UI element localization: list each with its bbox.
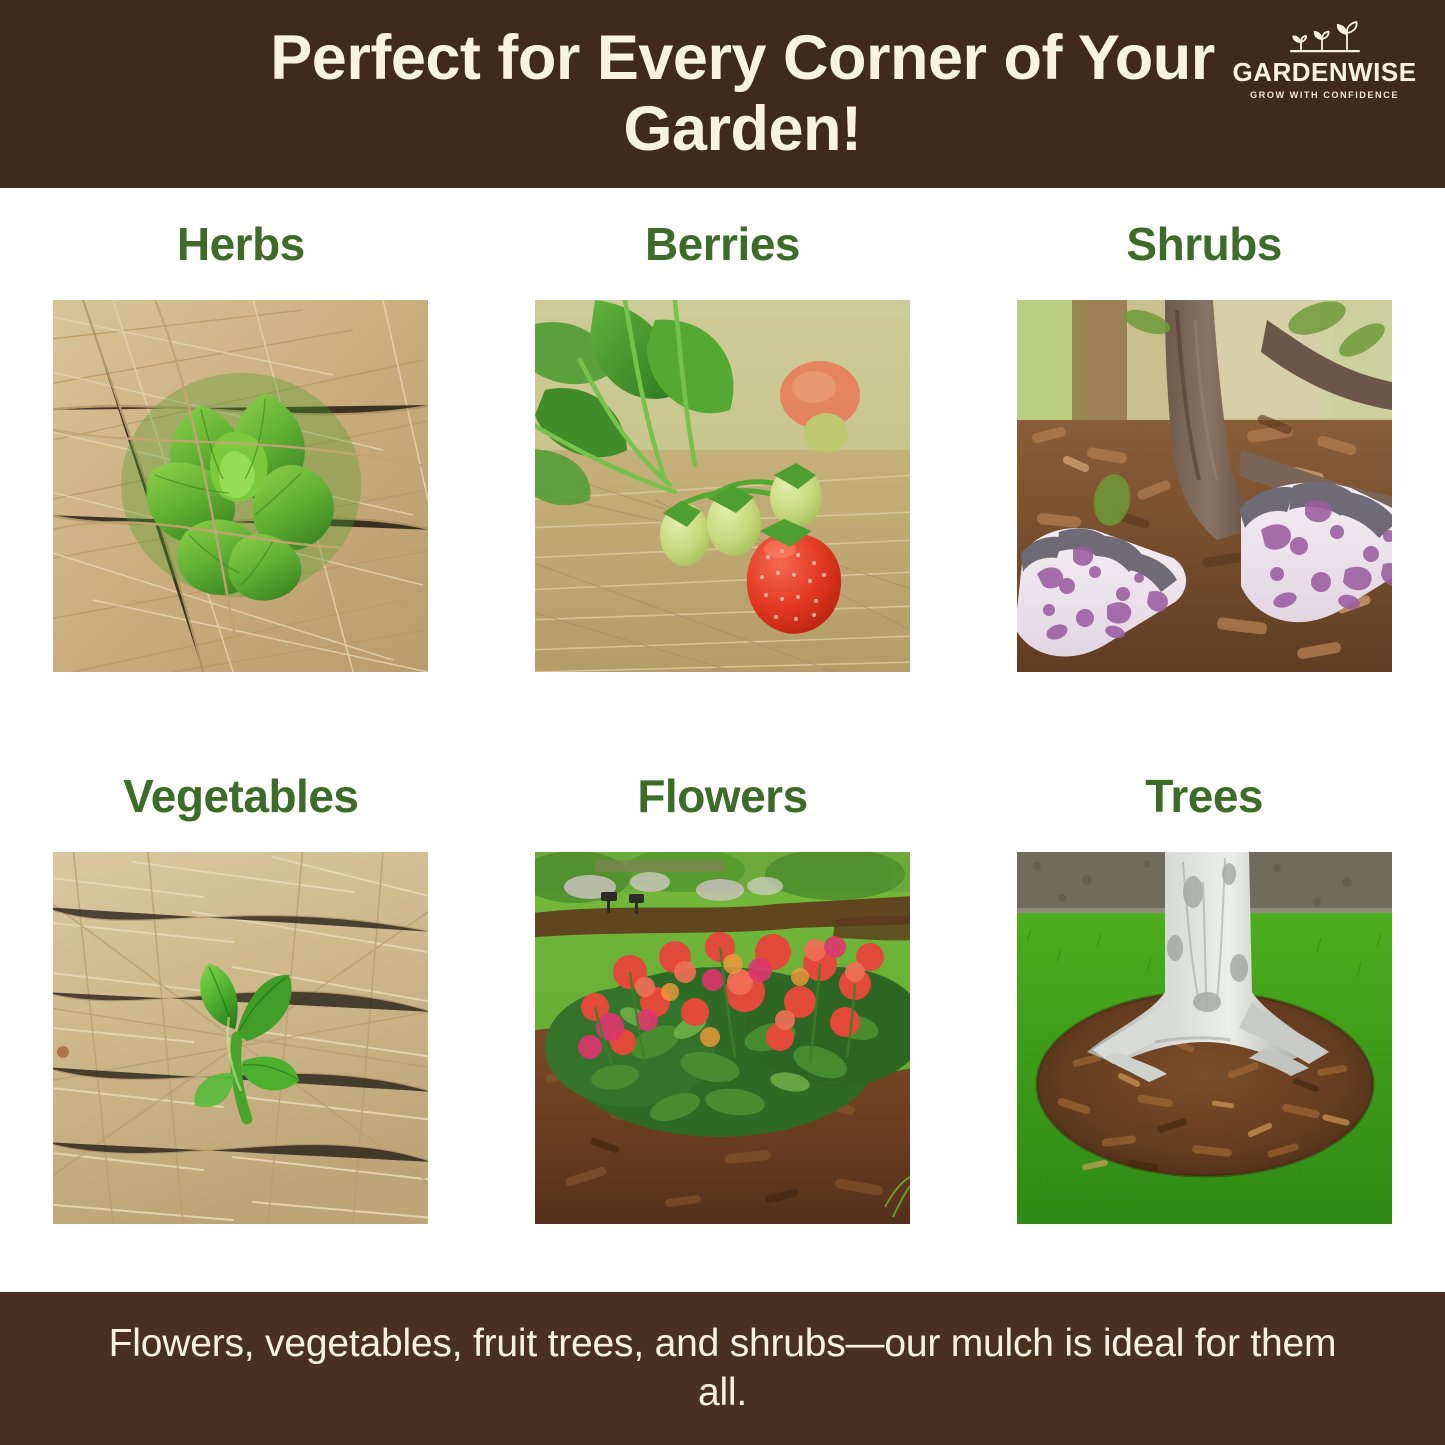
category-grid: Herbs [0, 188, 1445, 1292]
flowers-photo [535, 852, 910, 1224]
category-cell-trees: Trees [963, 740, 1445, 1292]
brand-tagline: GROW WITH CONFIDENCE [1250, 90, 1399, 100]
shrubs-photo [1017, 300, 1392, 672]
herbs-photo [53, 300, 428, 672]
header-banner: Perfect for Every Corner of Your Garden! [0, 0, 1445, 188]
category-label-herbs: Herbs [177, 188, 305, 300]
footer-tagline: Flowers, vegetables, fruit trees, and sh… [93, 1320, 1353, 1418]
vegetables-photo [53, 852, 428, 1224]
category-cell-flowers: Flowers [482, 740, 964, 1292]
footer-banner: Flowers, vegetables, fruit trees, and sh… [0, 1292, 1445, 1445]
category-cell-herbs: Herbs [0, 188, 482, 740]
category-label-trees: Trees [1145, 740, 1263, 852]
page-title: Perfect for Every Corner of Your Garden! [183, 23, 1263, 164]
brand-logo: GARDENWISE GROW WITH CONFIDENCE [1222, 16, 1427, 100]
category-cell-shrubs: Shrubs [963, 188, 1445, 740]
seedling-sprouts-icon [1277, 16, 1373, 58]
trees-photo [1017, 852, 1392, 1224]
berries-photo [535, 300, 910, 672]
category-cell-vegetables: Vegetables [0, 740, 482, 1292]
category-label-shrubs: Shrubs [1126, 188, 1281, 300]
brand-name: GARDENWISE [1232, 59, 1416, 85]
category-label-berries: Berries [645, 188, 800, 300]
category-label-flowers: Flowers [637, 740, 807, 852]
category-cell-berries: Berries [482, 188, 964, 740]
category-label-vegetables: Vegetables [123, 740, 358, 852]
